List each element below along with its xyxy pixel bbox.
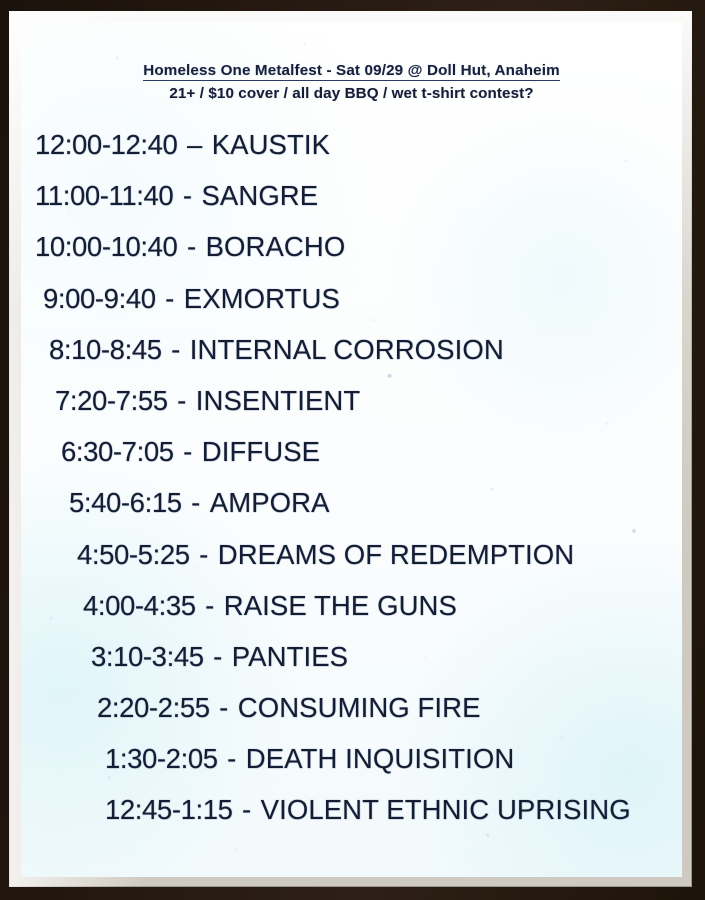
separator-dash: - (225, 743, 238, 774)
band-name: INSENTIENT (196, 385, 360, 416)
frame-mat: Homeless One Metalfest - Sat 09/29 @ Dol… (9, 11, 692, 887)
band-name: KAUSTIK (212, 129, 330, 160)
schedule-row: 5:40-6:15 - AMPORA (21, 477, 682, 528)
set-time: 11:00-11:40 (35, 180, 173, 211)
band-name: SANGRE (201, 180, 318, 211)
set-time: 6:30-7:05 (61, 436, 174, 467)
band-name: VIOLENT ETHNIC UPRISING (261, 794, 631, 825)
separator-dash: - (240, 794, 253, 825)
schedule-row: 10:00-10:40 - BORACHO (21, 221, 682, 272)
set-time: 4:50-5:25 (77, 539, 190, 570)
schedule-row: 7:20-7:55 - INSENTIENT (21, 375, 682, 426)
separator-dash: - (163, 283, 176, 314)
band-name: CONSUMING FIRE (238, 692, 481, 723)
separator-dash: - (181, 180, 194, 211)
band-name: RAISE THE GUNS (224, 590, 457, 621)
schedule-row: 8:10-8:45 - INTERNAL CORROSION (21, 324, 682, 375)
schedule-row: 4:00-4:35 - RAISE THE GUNS (21, 580, 682, 631)
schedule-row: 11:00-11:40 - SANGRE (21, 170, 682, 221)
schedule-row: 4:50-5:25 - DREAMS OF REDEMPTION (21, 529, 682, 580)
separator-dash: - (181, 436, 194, 467)
set-time: 5:40-6:15 (69, 487, 182, 518)
set-time: 9:00-9:40 (43, 283, 156, 314)
set-time: 7:20-7:55 (55, 385, 168, 416)
set-time-list: 12:00-12:40 – KAUSTIK11:00-11:40 - SANGR… (21, 119, 682, 836)
set-time: 12:45-1:15 (105, 794, 233, 825)
set-time: 4:00-4:35 (83, 590, 196, 621)
event-details: 21+ / $10 cover / all day BBQ / wet t-sh… (21, 85, 682, 102)
band-name: PANTIES (232, 641, 348, 672)
set-time: 10:00-10:40 (35, 231, 177, 262)
set-time: 8:10-8:45 (49, 334, 162, 365)
schedule-row: 6:30-7:05 - DIFFUSE (21, 426, 682, 477)
poster-paper: Homeless One Metalfest - Sat 09/29 @ Dol… (21, 22, 682, 877)
band-name: DIFFUSE (202, 436, 320, 467)
band-name: DREAMS OF REDEMPTION (218, 539, 574, 570)
separator-dash: - (169, 334, 182, 365)
separator-dash: - (189, 487, 202, 518)
schedule-row: 12:00-12:40 – KAUSTIK (21, 119, 682, 170)
schedule-row: 3:10-3:45 - PANTIES (21, 631, 682, 682)
set-time: 2:20-2:55 (97, 692, 210, 723)
schedule-row: 2:20-2:55 - CONSUMING FIRE (21, 682, 682, 733)
set-time: 1:30-2:05 (105, 743, 218, 774)
schedule-row: 12:45-1:15 - VIOLENT ETHNIC UPRISING (21, 784, 682, 835)
band-name: INTERNAL CORROSION (190, 334, 504, 365)
set-time: 12:00-12:40 (35, 129, 177, 160)
separator-dash: – (185, 129, 204, 160)
separator-dash: - (203, 590, 216, 621)
separator-dash: - (211, 641, 224, 672)
separator-dash: - (175, 385, 188, 416)
band-name: DEATH INQUISITION (246, 743, 515, 774)
separator-dash: - (217, 692, 230, 723)
picture-frame: Homeless One Metalfest - Sat 09/29 @ Dol… (0, 0, 705, 900)
band-name: AMPORA (210, 487, 330, 518)
band-name: EXMORTUS (184, 283, 340, 314)
separator-dash: - (197, 539, 210, 570)
event-title: Homeless One Metalfest - Sat 09/29 @ Dol… (143, 62, 560, 81)
band-name: BORACHO (206, 231, 346, 262)
separator-dash: - (185, 231, 198, 262)
schedule-row: 9:00-9:40 - EXMORTUS (21, 273, 682, 324)
schedule-row: 1:30-2:05 - DEATH INQUISITION (21, 733, 682, 784)
set-time: 3:10-3:45 (91, 641, 204, 672)
poster-header: Homeless One Metalfest - Sat 09/29 @ Dol… (21, 62, 682, 102)
